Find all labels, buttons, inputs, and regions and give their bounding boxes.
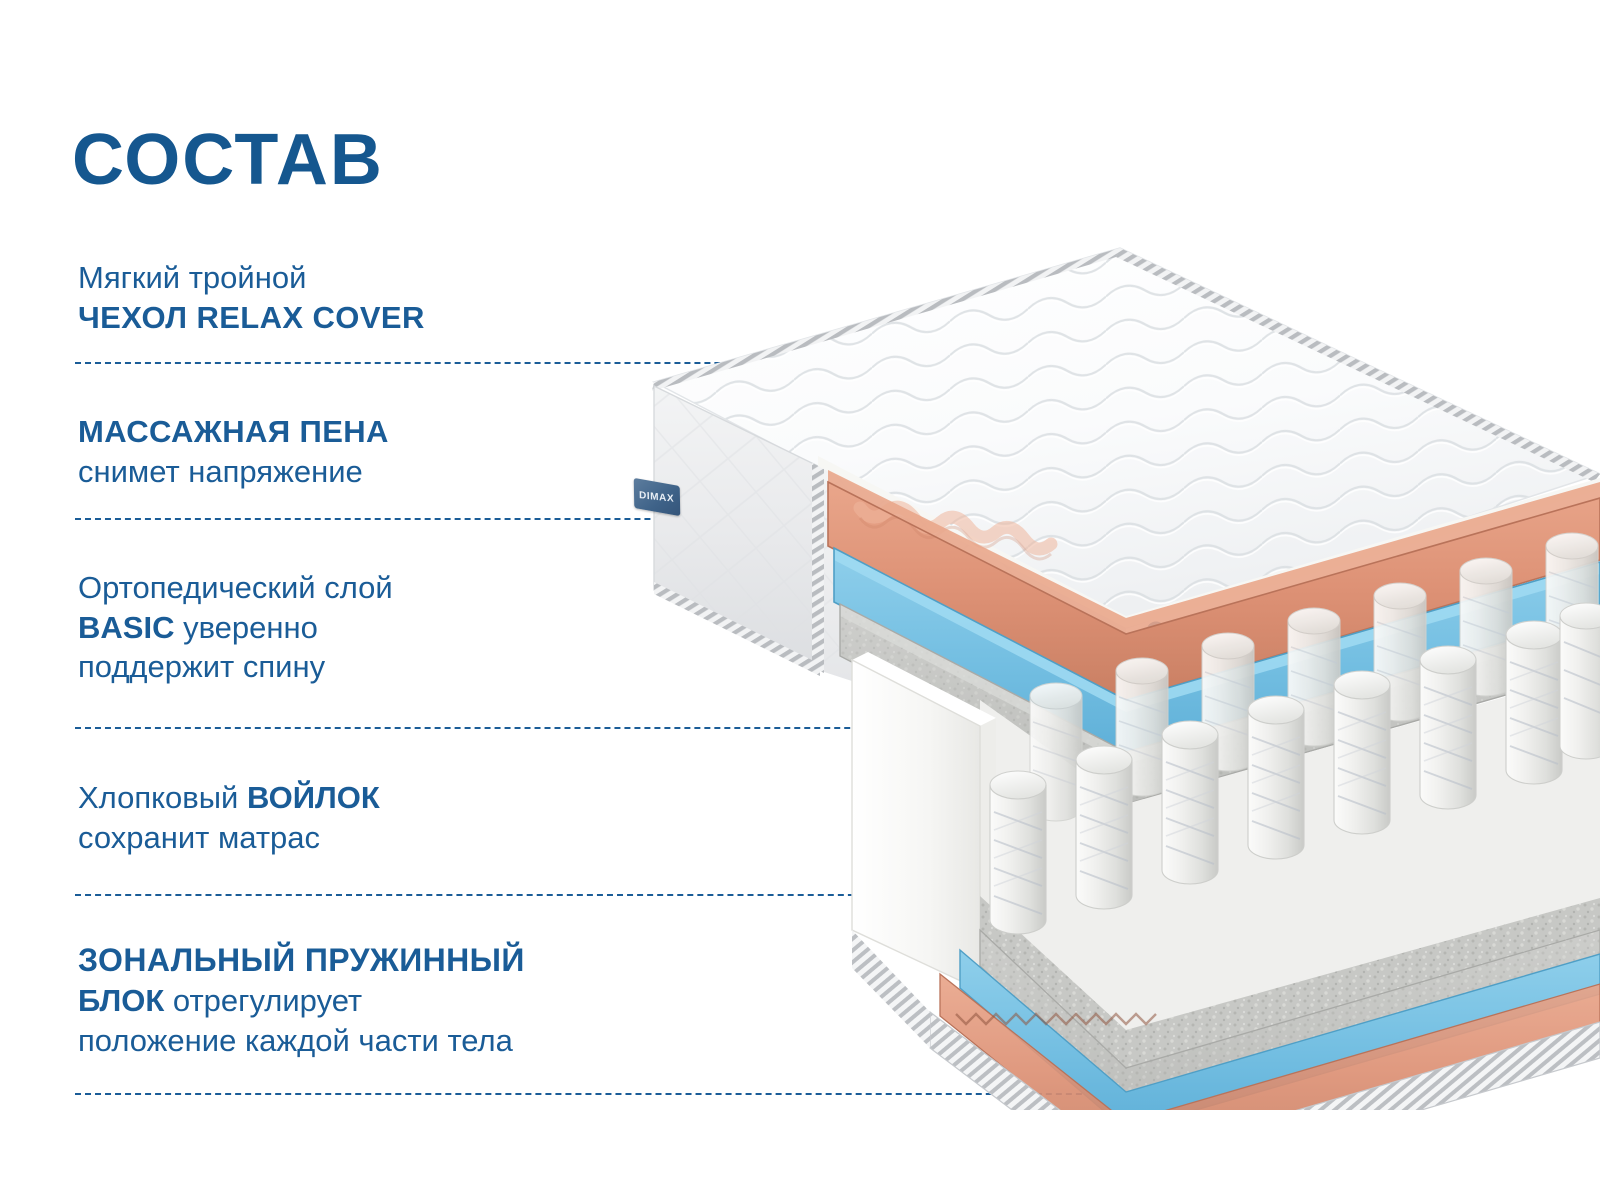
feature-spring-line1: ЗОНАЛЬНЫЙ ПРУЖИННЫЙ: [78, 940, 525, 981]
feature-orthopedic-line3: поддержит спину: [78, 647, 393, 687]
feature-spring-emphasis: БЛОК: [78, 983, 164, 1018]
feature-cover-line1: Мягкий тройной: [78, 258, 425, 298]
infographic-canvas: СОСТАВ Мягкий тройной ЧЕХОЛ RELAX COVER …: [0, 0, 1600, 1200]
feature-orthopedic-basic: Ортопедический слой BASIC уверенно подде…: [78, 568, 393, 687]
mattress-illustration: DIMAX: [560, 230, 1600, 1110]
feature-massage-foam-line2: снимет напряжение: [78, 452, 389, 492]
feature-massage-foam: МАССАЖНАЯ ПЕНА снимет напряжение: [78, 412, 389, 491]
feature-orthopedic-emphasis: BASIC: [78, 610, 174, 645]
feature-orthopedic-line1: Ортопедический слой: [78, 568, 393, 608]
mattress-svg: [560, 230, 1600, 1110]
feature-cotton-felt: Хлопковый ВОЙЛОК сохранит матрас: [78, 778, 380, 857]
page-title: СОСТАВ: [72, 124, 384, 196]
feature-spring-line3: положение каждой части тела: [78, 1021, 525, 1061]
brand-tag-label: DIMAX: [639, 490, 674, 505]
feature-zonal-spring-block: ЗОНАЛЬНЫЙ ПРУЖИННЫЙ БЛОК отрегулирует по…: [78, 940, 525, 1060]
feature-felt-line1: Хлопковый ВОЙЛОК: [78, 778, 380, 818]
feature-orthopedic-line2: BASIC уверенно: [78, 608, 393, 648]
feature-massage-foam-line1: МАССАЖНАЯ ПЕНА: [78, 412, 389, 452]
feature-felt-emphasis: ВОЙЛОК: [247, 780, 380, 815]
feature-cover: Мягкий тройной ЧЕХОЛ RELAX COVER: [78, 258, 425, 337]
feature-spring-line2: БЛОК отрегулирует: [78, 981, 525, 1021]
feature-cover-line2: ЧЕХОЛ RELAX COVER: [78, 298, 425, 338]
feature-felt-line2: сохранит матрас: [78, 818, 380, 858]
cord-edge-corner: [812, 463, 824, 673]
